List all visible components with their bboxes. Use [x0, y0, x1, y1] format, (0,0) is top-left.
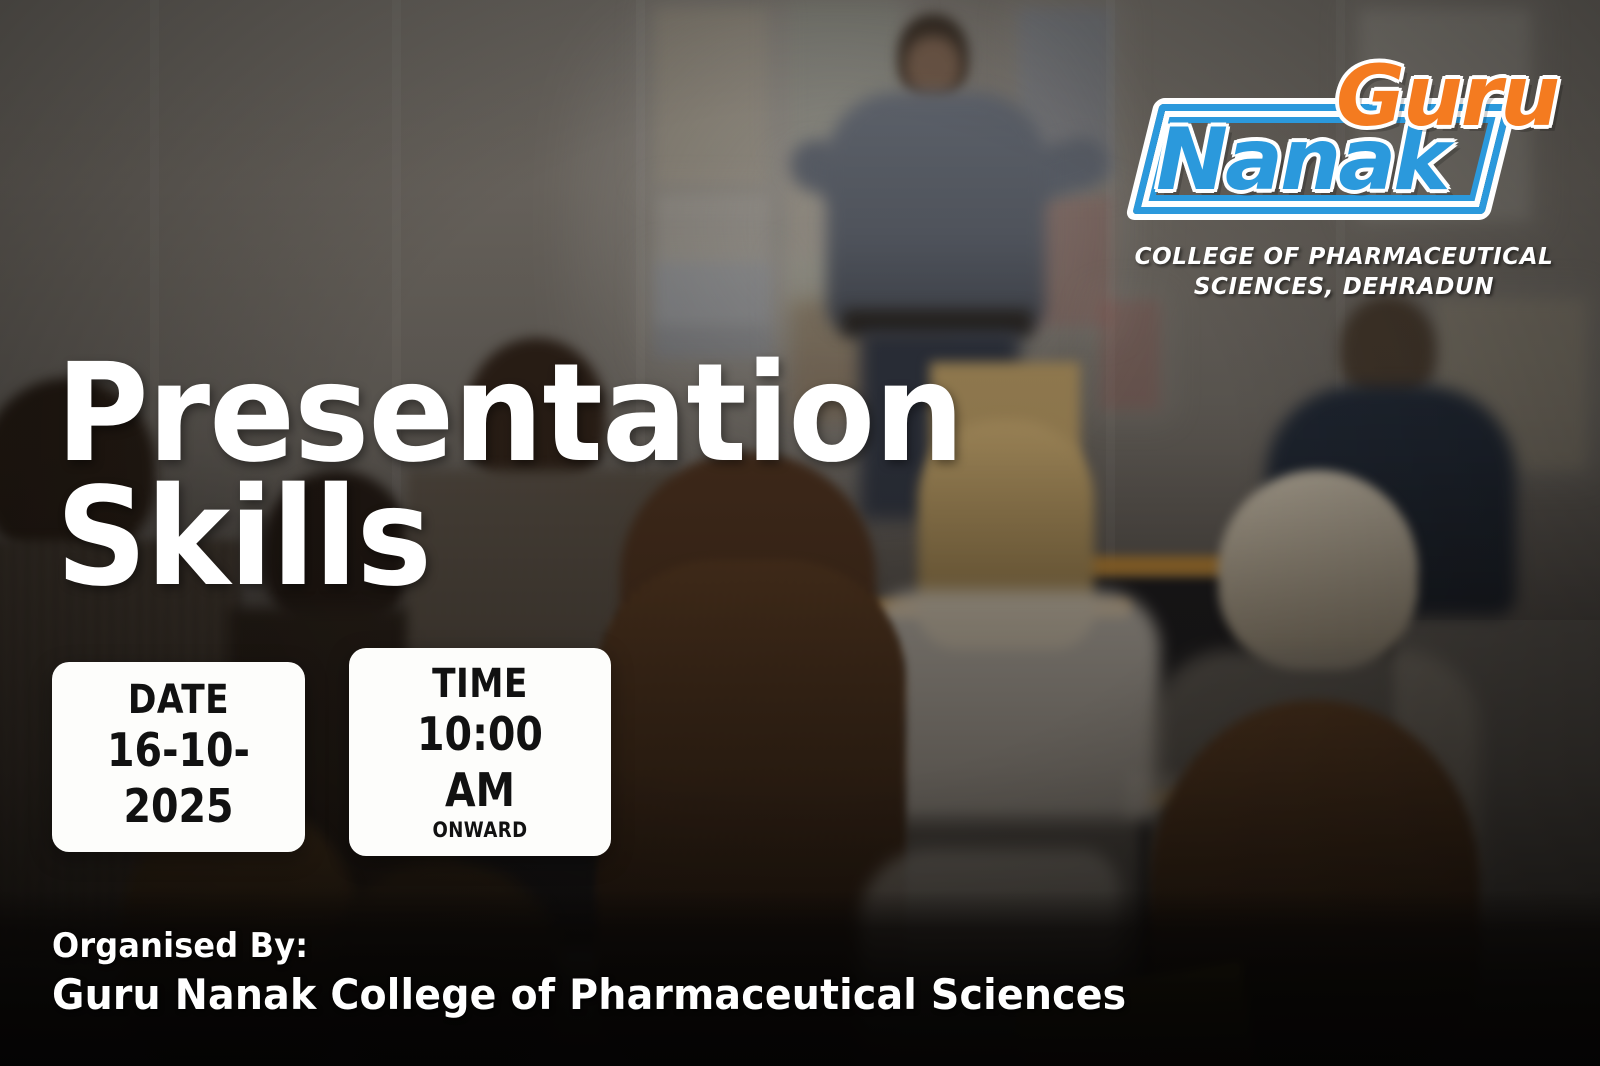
page-title: Presentation Skills	[56, 352, 963, 600]
logo-mark: Nanak Guru	[1134, 58, 1554, 236]
event-poster: Nanak Guru COLLEGE OF PHARMACEUTICAL SCI…	[0, 0, 1600, 1066]
date-card-value: 16-10-2025	[82, 722, 276, 834]
logo-word-guru: Guru	[1336, 48, 1558, 144]
time-card: TIME 10:00 AM ONWARD	[349, 648, 611, 856]
logo-tagline: COLLEGE OF PHARMACEUTICAL SCIENCES, DEHR…	[1134, 242, 1554, 302]
event-info-cards: DATE 16-10-2025 TIME 10:00 AM ONWARD	[52, 648, 611, 856]
time-card-value: 10:00 AM	[379, 706, 580, 818]
time-card-label: TIME	[379, 662, 580, 706]
time-card-sub: ONWARD	[379, 818, 580, 842]
college-logo[interactable]: Nanak Guru COLLEGE OF PHARMACEUTICAL SCI…	[1134, 58, 1554, 302]
date-card-label: DATE	[82, 678, 276, 722]
organiser-name: Guru Nanak College of Pharmaceutical Sci…	[52, 968, 1126, 1022]
organised-by-label: Organised By:	[52, 924, 1126, 968]
footer-text: Organised By: Guru Nanak College of Phar…	[52, 924, 1195, 1022]
date-card: DATE 16-10-2025	[52, 662, 305, 852]
